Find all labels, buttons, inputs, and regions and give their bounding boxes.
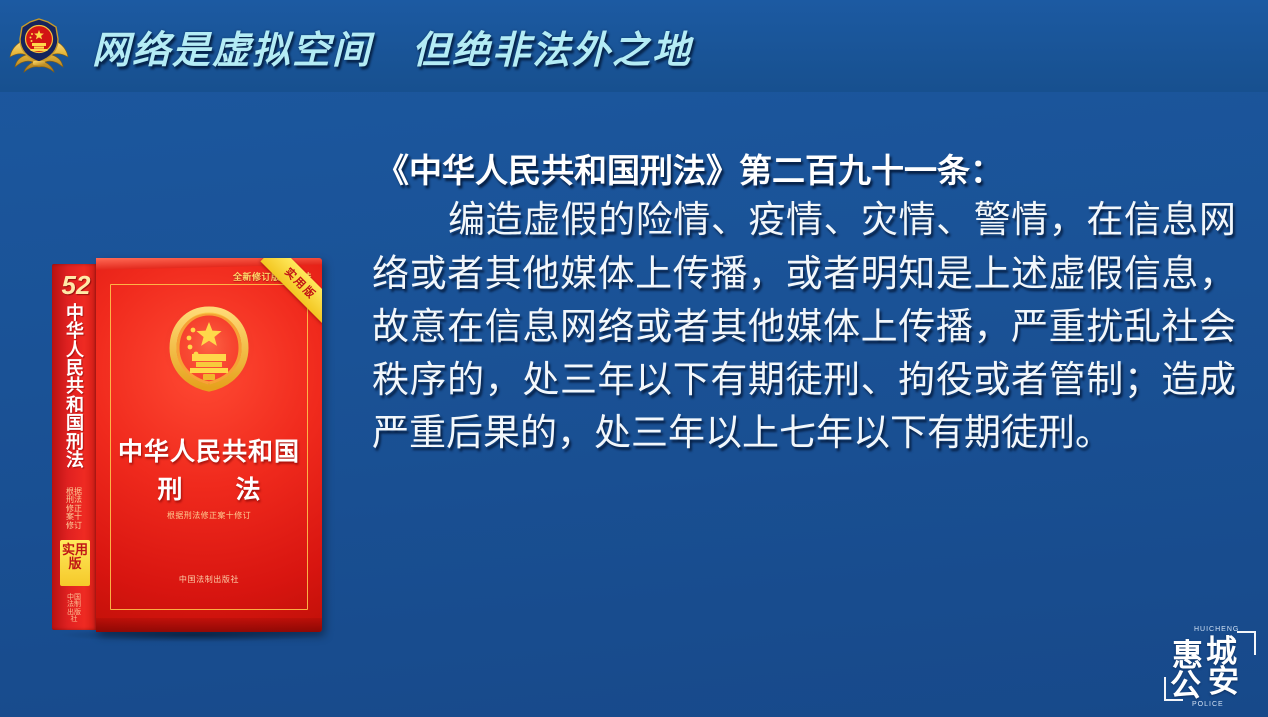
book-cover: 全新修订版 · 刑 法 实用版 (96, 258, 322, 632)
watermark-top-text: HUICHENG (1194, 626, 1239, 633)
book-cover-note: 根据刑法修正案十修订 (96, 510, 322, 521)
china-national-emblem-icon (162, 302, 256, 396)
huicheng-police-watermark: HUICHENG 惠 城 公 安 POLICE (1164, 617, 1256, 709)
law-text-block: 《中华人民共和国刑法》第二百九十一条： 编造虚假的险情、疫情、灾情、警情，在信息… (372, 150, 1236, 460)
book-spine-title: 中华人民共和国刑法 (62, 304, 88, 469)
watermark-char-3: 公 (1170, 671, 1201, 702)
watermark-char-4: 安 (1208, 667, 1239, 698)
header-slogan: 网络是虚拟空间 但绝非法外之地 (92, 19, 692, 74)
watermark-bottom-text: POLICE (1192, 701, 1224, 708)
book-spine-number: 52 (54, 270, 98, 301)
book-spine-badge: 实用版 (60, 540, 90, 586)
header-bar: 网络是虚拟空间 但绝非法外之地 (0, 0, 1268, 92)
book-spine: 52 中华人民共和国刑法 根据刑法修正案十修订 实用版 中国法制出版社 (52, 264, 98, 630)
book-spine-subtitle: 根据刑法修正案十修订 (66, 488, 82, 530)
criminal-law-book-image: 52 中华人民共和国刑法 根据刑法修正案十修订 实用版 中国法制出版社 全新修订… (52, 258, 324, 636)
watermark-bracket-top-right (1237, 631, 1256, 655)
book-title-line1: 中华人民共和国 (96, 432, 322, 468)
slide-canvas: 网络是虚拟空间 但绝非法外之地 52 中华人民共和国刑法 根据刑法修正案十修订 … (0, 0, 1268, 717)
police-badge-icon (8, 17, 70, 75)
law-article-title: 《中华人民共和国刑法》第二百九十一条： (372, 150, 1236, 191)
book-bottom-edge (96, 618, 322, 632)
law-article-body: 编造虚假的险情、疫情、灾情、警情，在信息网络或者其他媒体上传播，或者明知是上述虚… (372, 193, 1236, 459)
book-cover-publisher: 中国法制出版社 (96, 574, 322, 585)
book-spine-publisher: 中国法制出版社 (65, 594, 83, 623)
book-title-line2: 刑 法 (96, 470, 322, 506)
